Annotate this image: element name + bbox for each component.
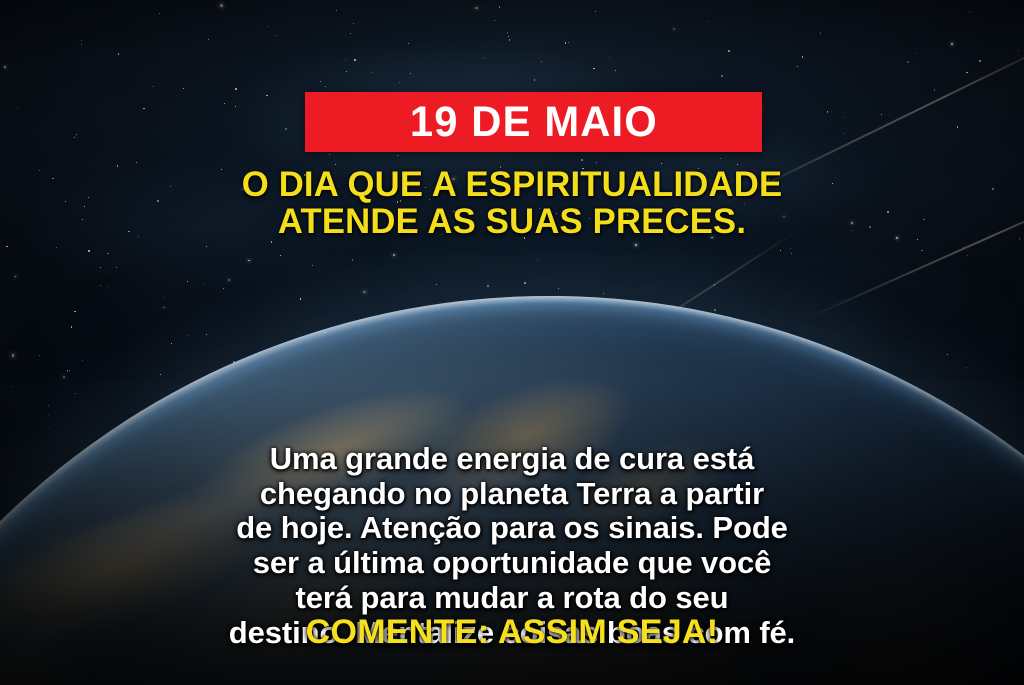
body-line-5: terá para mudar a rota do seu — [62, 581, 962, 616]
headline-line-2: ATENDE AS SUAS PRECES. — [5, 203, 1019, 240]
poster-canvas: 19 DE MAIO O DIA QUE A ESPIRITUALIDADE A… — [0, 0, 1024, 685]
date-banner-label: 19 DE MAIO — [409, 101, 657, 144]
body-line-2: chegando no planeta Terra a partir — [62, 477, 962, 512]
body-line-4: ser a última oportunidade que você — [62, 546, 962, 581]
cta-text: COMENTE: ASSIM SEJA! — [0, 615, 1024, 649]
body-line-3: de hoje. Atenção para os sinais. Pode — [62, 511, 962, 546]
body-line-1: Uma grande energia de cura está — [62, 442, 962, 477]
headline: O DIA QUE A ESPIRITUALIDADE ATENDE AS SU… — [5, 166, 1019, 240]
headline-line-1: O DIA QUE A ESPIRITUALIDADE — [5, 166, 1019, 203]
date-banner: 19 DE MAIO — [305, 92, 762, 152]
